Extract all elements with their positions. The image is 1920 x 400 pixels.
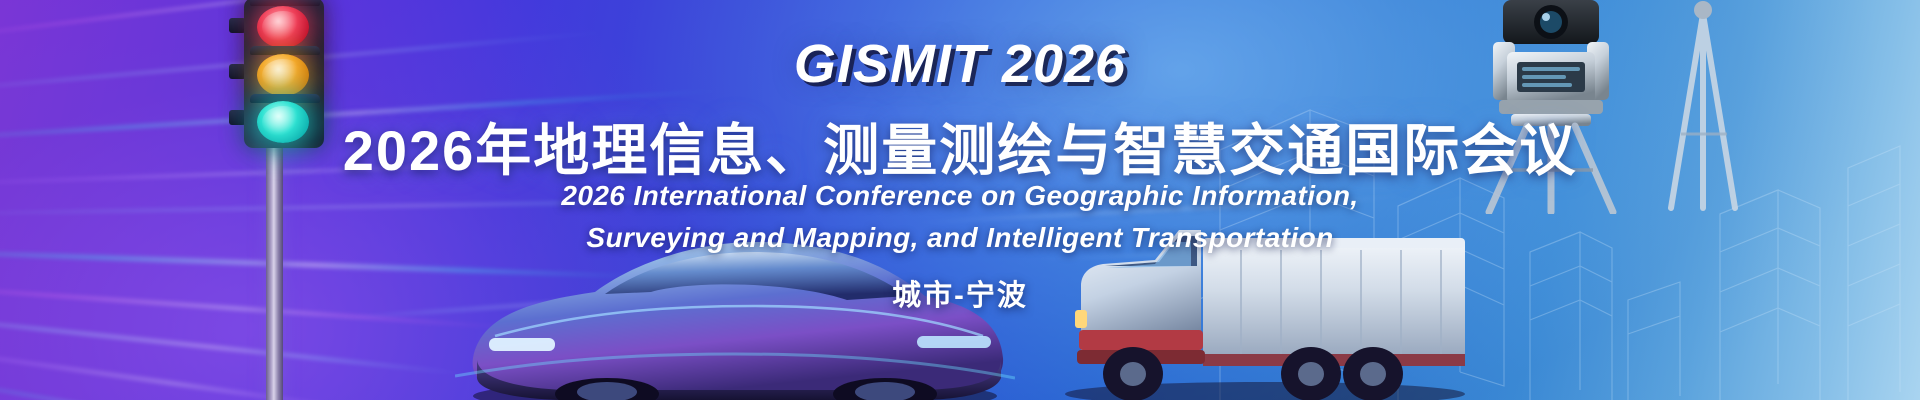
traffic-light-icon	[232, 0, 324, 336]
total-station-icon	[1465, 0, 1795, 214]
conference-banner: GISMIT 2026 2026年地理信息、测量测绘与智慧交通国际会议 2026…	[0, 0, 1920, 400]
cargo-truck-icon	[1055, 214, 1475, 400]
traffic-light-green-lamp	[257, 101, 309, 143]
light-streak	[0, 88, 728, 146]
electric-car-icon	[455, 208, 1015, 400]
traffic-light-pole	[266, 146, 283, 400]
light-streak	[0, 336, 405, 400]
traffic-light-housing	[244, 0, 324, 148]
traffic-light-red-lamp	[257, 6, 309, 48]
light-streak	[0, 364, 372, 400]
traffic-light-amber-lamp	[257, 54, 309, 96]
